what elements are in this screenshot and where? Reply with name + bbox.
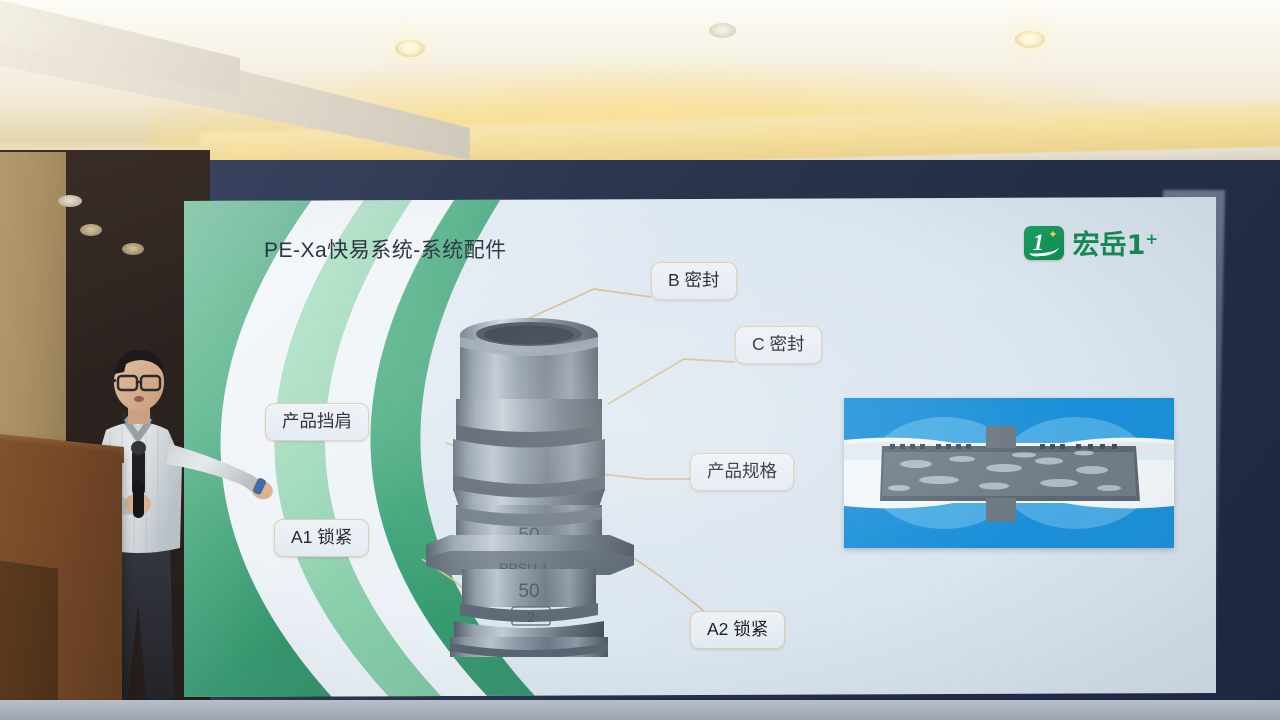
callout-c-seal[interactable]: C 密封: [735, 326, 822, 364]
podium-base: [0, 551, 58, 720]
downlight-icon: [395, 40, 425, 57]
product-marking-2: 2: [527, 609, 535, 625]
microphone-icon: [131, 441, 146, 518]
projection-screen: PE-Xa快易系统-系统配件 1 ✦ 宏岳1+: [184, 197, 1216, 697]
downlight-icon: [122, 243, 144, 255]
product-photo-fitting: 50 PPSU 1 50 2: [420, 307, 640, 657]
product-marking-50-lower: 50: [518, 581, 539, 602]
callout-shoulder[interactable]: 产品挡肩: [265, 403, 369, 441]
callout-b-seal[interactable]: B 密封: [651, 262, 737, 300]
callout-a1-lock[interactable]: A1 锁紧: [274, 519, 369, 557]
smoke-detector-icon: [709, 23, 736, 38]
callout-specification[interactable]: 产品规格: [690, 453, 794, 491]
downlight-icon: [80, 224, 102, 236]
downlight-icon: [1015, 31, 1045, 48]
stage-floor: [0, 700, 1280, 720]
presentation-photo-scene: PE-Xa快易系统-系统配件 1 ✦ 宏岳1+: [0, 0, 1280, 720]
callout-a2-lock[interactable]: A2 锁紧: [690, 611, 785, 649]
downlight-icon: [58, 195, 82, 207]
inset-photo-cross-section: [844, 398, 1174, 548]
